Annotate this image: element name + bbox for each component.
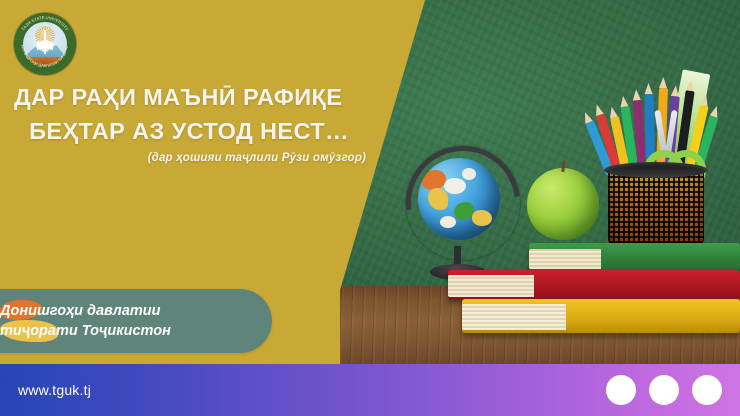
headline-block: ДАР РАҲИ МАЪНӢ РАФИҚЕ БЕҲТАР АЗ УСТОД НЕ… bbox=[12, 80, 372, 164]
book-yellow bbox=[462, 299, 740, 333]
banner-line-2: тиҷорати Тоҷикистон bbox=[0, 320, 58, 342]
globe-sphere bbox=[418, 158, 500, 240]
university-logo-icon: ТАJIK STATE UNIVERSITY ДОНИШГОҲИ ДАВЛАТИ… bbox=[14, 13, 76, 75]
headline-subtitle: (дар ҳошияи таҷлили Рӯзи омӯзгор) bbox=[12, 152, 372, 164]
globe bbox=[404, 146, 522, 288]
headline-line-1: ДАР РАҲИ МАЪНӢ РАФИҚЕ bbox=[12, 80, 372, 114]
mesh-cup-rim bbox=[604, 162, 708, 178]
twitter-icon[interactable] bbox=[692, 375, 722, 405]
logo-ring-text: ТАJIK STATE UNIVERSITY ДОНИШГОҲИ ДАВЛАТИ… bbox=[14, 13, 76, 75]
green-apple bbox=[527, 168, 599, 240]
social-links bbox=[606, 375, 722, 405]
facebook-icon[interactable] bbox=[606, 375, 636, 405]
university-name-banner: Донишгоҳи давлатии тиҷорати Тоҷикистон bbox=[0, 289, 272, 353]
book-red bbox=[448, 270, 740, 300]
pencil-cup bbox=[600, 36, 712, 248]
footer-bar: www.tguk.tj bbox=[0, 364, 740, 416]
banner-line-1: Донишгоҳи давлатии bbox=[0, 300, 42, 320]
website-url[interactable]: www.tguk.tj bbox=[18, 382, 91, 398]
poster: ТАJIK STATE UNIVERSITY ДОНИШГОҲИ ДАВЛАТИ… bbox=[0, 0, 740, 416]
instagram-icon[interactable] bbox=[649, 375, 679, 405]
svg-text:ДОНИШГОҲИ ДАВЛАТИИ ТИҶОРАТ: ДОНИШГОҲИ ДАВЛАТИИ ТИҶОРАТ bbox=[21, 44, 69, 68]
book-green bbox=[529, 243, 740, 271]
headline-line-2: БЕҲТАР АЗ УСТОД НЕСТ… bbox=[12, 114, 372, 148]
mesh-cup-body bbox=[608, 168, 704, 248]
svg-text:ТАJIK STATE UNIVERSITY: ТАJIK STATE UNIVERSITY bbox=[20, 15, 69, 32]
